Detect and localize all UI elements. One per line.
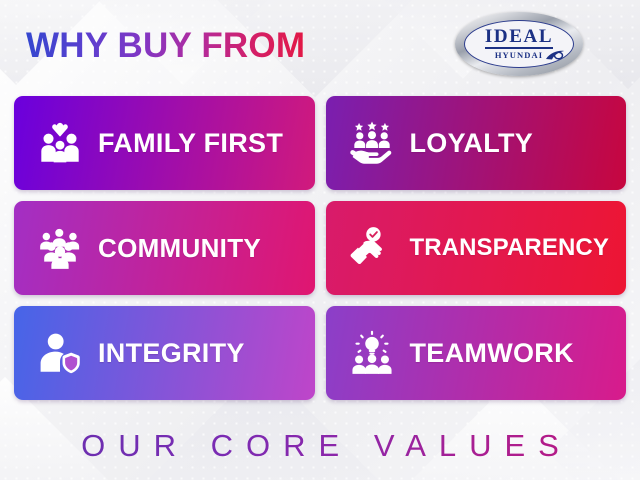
value-card-label: LOYALTY [410, 128, 534, 159]
page-title: WHY BUY FROM [26, 24, 305, 68]
value-card-integrity[interactable]: INTEGRITY [14, 306, 315, 400]
dealer-logo-brand: IDEAL [485, 27, 553, 46]
dealer-logo-sub: HYUNDAI [495, 50, 543, 60]
team-lightbulb-icon [348, 329, 396, 377]
value-card-family-first[interactable]: FAMILY FIRST [14, 96, 315, 190]
value-card-teamwork[interactable]: TEAMWORK [326, 306, 627, 400]
dealer-logo-divider [485, 47, 553, 49]
value-card-label: INTEGRITY [98, 338, 245, 369]
value-card-label: COMMUNITY [98, 233, 261, 264]
family-icon [36, 119, 84, 167]
hand-stars-people-icon [348, 119, 396, 167]
value-card-community[interactable]: COMMUNITY [14, 201, 315, 295]
header: WHY BUY FROM IDEAL HYUNDAI [0, 0, 640, 90]
values-grid: FAMILY FIRST LOYALTY [14, 96, 626, 400]
value-card-label: FAMILY FIRST [98, 128, 283, 159]
person-shield-icon [36, 329, 84, 377]
footer: OUR CORE VALUES [0, 418, 640, 474]
value-card-loyalty[interactable]: LOYALTY [326, 96, 627, 190]
value-card-label: TEAMWORK [410, 338, 574, 369]
dealer-logo-inner: IDEAL HYUNDAI [464, 20, 574, 68]
hyundai-h-icon [545, 49, 565, 63]
handshake-check-icon [348, 224, 396, 272]
slide-canvas: WHY BUY FROM IDEAL HYUNDAI [0, 0, 640, 480]
value-card-label: TRANSPARENCY [410, 234, 609, 262]
footer-tagline: OUR CORE VALUES [68, 428, 572, 464]
value-card-transparency[interactable]: TRANSPARENCY [326, 201, 627, 295]
people-group-icon [36, 224, 84, 272]
dealer-logo: IDEAL HYUNDAI [455, 12, 583, 76]
